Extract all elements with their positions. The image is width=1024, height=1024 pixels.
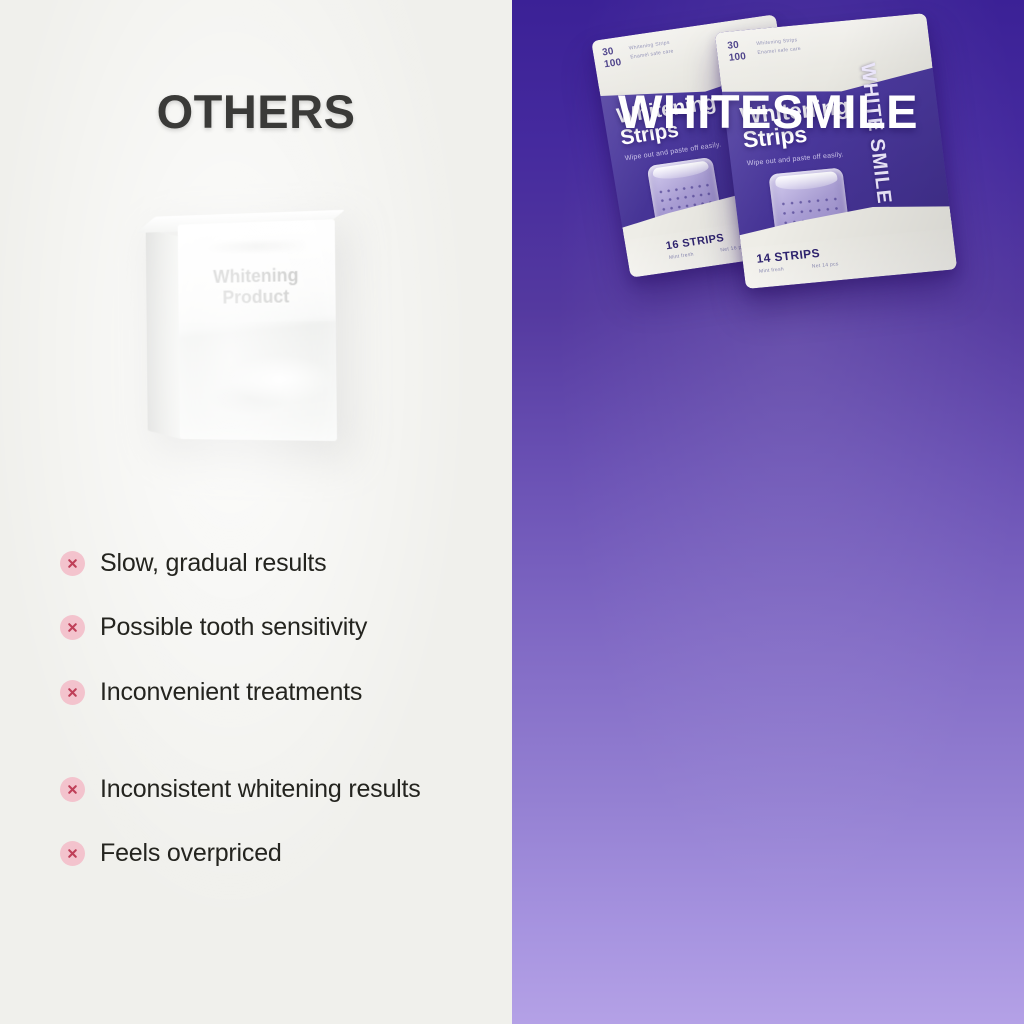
box-strips-count: 16 STRIPS	[665, 232, 725, 252]
others-panel: OTHERS Whitening Product Slow, gradual r…	[0, 0, 512, 1024]
others-box-side	[146, 230, 182, 440]
box-subline: Wipe out and paste off easily.	[746, 151, 844, 167]
box-strips-sub-left: Mint fresh	[669, 252, 695, 262]
list-item: Feels overpriced	[60, 838, 490, 868]
box-strips-sub-right: Net 14 pcs	[812, 261, 840, 269]
box-bottom-band: 14 STRIPS Mint fresh Net 14 pcs	[740, 220, 957, 289]
x-icon	[60, 680, 85, 705]
list-item-label: Inconsistent whitening results	[100, 774, 421, 804]
x-icon	[60, 615, 85, 640]
box-band-number-bottom: 100	[728, 52, 747, 64]
x-icon	[60, 777, 85, 802]
others-box-title-line2: Product	[178, 285, 335, 309]
list-item-label: Possible tooth sensitivity	[100, 612, 367, 642]
whitesmile-panel: WHITESMILE 30 100 Whitening Strips Ename…	[512, 0, 1024, 1024]
list-item: Slow, gradual results	[60, 548, 490, 578]
others-box-front: Whitening Product	[178, 219, 337, 441]
whitesmile-product-boxes: 30 100 Whitening Strips Enamel safe care…	[512, 0, 1024, 512]
others-box-title: Whitening Product	[178, 264, 335, 309]
list-item: Inconsistent whitening results	[60, 774, 430, 804]
whitesmile-heading: WHITESMILE	[512, 84, 1024, 139]
others-box-swirl	[191, 335, 337, 433]
list-item-label: Feels overpriced	[100, 838, 282, 868]
list-item-label: Slow, gradual results	[100, 548, 326, 578]
x-icon	[60, 841, 85, 866]
list-item: Possible tooth sensitivity	[60, 612, 490, 642]
x-icon	[60, 551, 85, 576]
box-band-number-bottom: 100	[604, 58, 623, 71]
list-item-label: Inconvenient treatments	[100, 677, 362, 707]
comparison-infographic: OTHERS Whitening Product Slow, gradual r…	[0, 0, 1024, 1024]
list-item: Inconvenient treatments	[60, 677, 490, 707]
others-product-box: Whitening Product	[178, 219, 337, 441]
product-box-14-strips: 30 100 Whitening Strips Enamel safe care…	[715, 13, 958, 289]
box-band-number-top: 30	[727, 41, 740, 53]
others-heading: OTHERS	[0, 84, 512, 139]
box-strips-sub-left: Mint fresh	[759, 266, 785, 274]
